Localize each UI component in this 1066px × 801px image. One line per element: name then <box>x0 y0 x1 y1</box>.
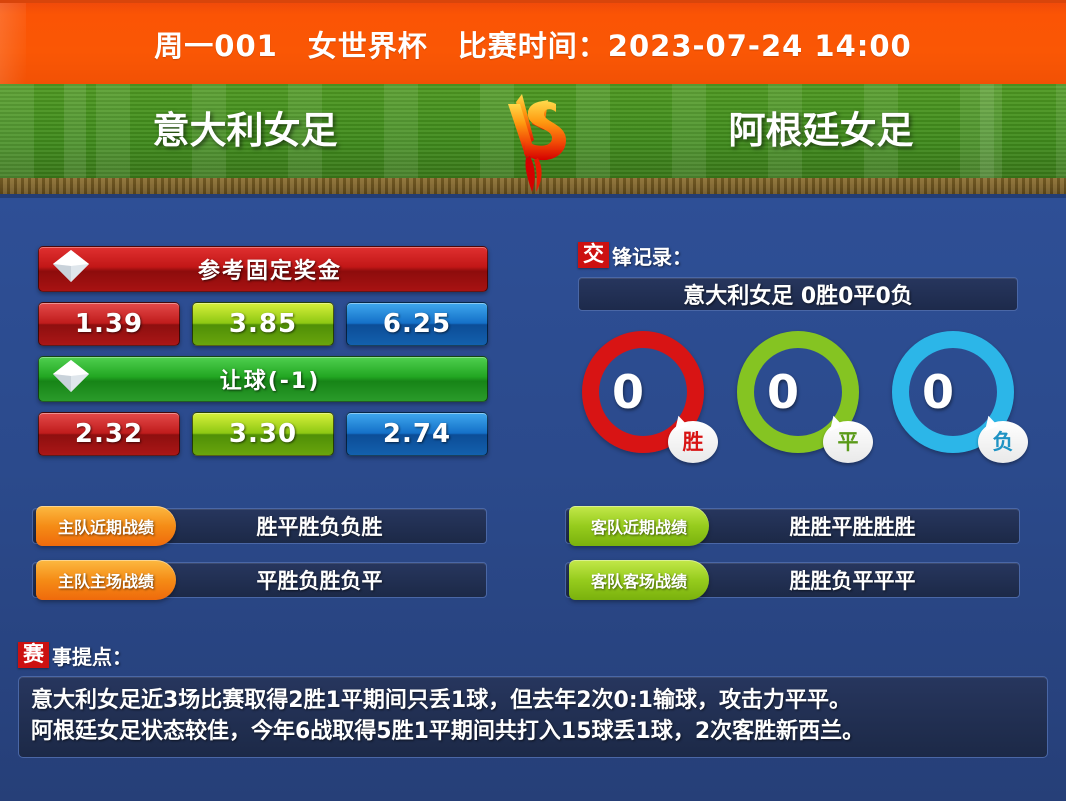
h2h-ring-win: 0 胜 <box>582 331 704 453</box>
ring-value-win: 0 <box>612 369 644 415</box>
analysis-line: 阿根廷女足状态较佳，今年6战取得5胜1平期间共打入15球丢1球，2次客胜新西兰。 <box>31 716 1035 747</box>
ring-badge-loss: 负 <box>978 421 1028 463</box>
home-recent-form-tag: 主队近期战绩 <box>36 506 176 546</box>
fixed-odds-title: 参考固定奖金 <box>184 253 342 285</box>
ring-value-draw: 0 <box>767 369 799 415</box>
h2h-label-key: 交 <box>578 242 609 268</box>
diamond-icon <box>51 358 91 400</box>
handicap-prefix: 让球( <box>220 369 280 394</box>
handicap-header: 让球(-1) <box>38 356 488 402</box>
analysis-label-rest: 事提点： <box>52 641 132 670</box>
fixed-odds-header: 参考固定奖金 <box>38 246 488 292</box>
h2h-section-label: 交 锋记录： <box>578 240 1018 270</box>
home-team-name: 意大利女足 <box>0 100 490 154</box>
handicap-odd-away[interactable]: 2.74 <box>346 412 488 456</box>
fixed-odd-draw[interactable]: 3.85 <box>192 302 334 346</box>
handicap-title: 让球(-1) <box>206 363 321 395</box>
away-venue-form-row: 胜胜负平平平 客队客场战绩 <box>565 562 1020 598</box>
handicap-suffix: ) <box>308 369 320 394</box>
analysis-panel: 赛 事提点： 意大利女足近3场比赛取得2胜1平期间只丢1球，但去年2次0:1输球… <box>18 640 1048 758</box>
match-preview-page: 周一001 女世界杯 比赛时间：2023-07-24 14:00 意大利女足 阿… <box>0 0 1066 801</box>
handicap-odds-row: 2.32 3.30 2.74 <box>38 412 488 456</box>
h2h-label-rest: 锋记录： <box>612 241 692 270</box>
away-venue-form-tag: 客队客场战绩 <box>569 560 709 600</box>
ring-value-loss: 0 <box>922 369 954 415</box>
h2h-summary: 意大利女足 0胜0平0负 <box>578 277 1018 311</box>
ring-badge-draw: 平 <box>823 421 873 463</box>
head-to-head-panel: 交 锋记录： 意大利女足 0胜0平0负 0 胜 0 平 0 负 <box>578 240 1018 453</box>
home-venue-form-tag: 主队主场战绩 <box>36 560 176 600</box>
handicap-odd-draw[interactable]: 3.30 <box>192 412 334 456</box>
header-bar: 周一001 女世界杯 比赛时间：2023-07-24 14:00 <box>0 0 1066 84</box>
away-recent-form-row: 胜胜平胜胜胜 客队近期战绩 <box>565 508 1020 544</box>
away-team-name: 阿根廷女足 <box>576 100 1066 154</box>
vs-flame-icon <box>486 88 586 194</box>
fixed-odd-away[interactable]: 6.25 <box>346 302 488 346</box>
analysis-text-box: 意大利女足近3场比赛取得2胜1平期间只丢1球，但去年2次0:1输球，攻击力平平。… <box>18 676 1048 758</box>
h2h-rings: 0 胜 0 平 0 负 <box>578 331 1018 453</box>
ring-badge-win: 胜 <box>668 421 718 463</box>
handicap-odd-home[interactable]: 2.32 <box>38 412 180 456</box>
h2h-ring-loss: 0 负 <box>892 331 1014 453</box>
home-form-column: 胜平胜负负胜 主队近期战绩 平胜负胜负平 主队主场战绩 <box>32 508 487 616</box>
analysis-label-key: 赛 <box>18 642 49 668</box>
fixed-odd-home[interactable]: 1.39 <box>38 302 180 346</box>
header-title: 周一001 女世界杯 比赛时间：2023-07-24 14:00 <box>154 23 911 65</box>
fixed-odds-row: 1.39 3.85 6.25 <box>38 302 488 346</box>
diamond-icon <box>51 248 91 290</box>
analysis-line: 意大利女足近3场比赛取得2胜1平期间只丢1球，但去年2次0:1输球，攻击力平平。 <box>31 685 1035 716</box>
h2h-ring-draw: 0 平 <box>737 331 859 453</box>
away-recent-form-tag: 客队近期战绩 <box>569 506 709 546</box>
home-recent-form-row: 胜平胜负负胜 主队近期战绩 <box>32 508 487 544</box>
handicap-value: -1 <box>280 369 308 394</box>
away-form-column: 胜胜平胜胜胜 客队近期战绩 胜胜负平平平 客队客场战绩 <box>565 508 1020 616</box>
odds-panel: 参考固定奖金 1.39 3.85 6.25 让球(-1) 2.32 3.30 2… <box>38 246 488 466</box>
analysis-section-label: 赛 事提点： <box>18 640 1048 670</box>
home-venue-form-row: 平胜负胜负平 主队主场战绩 <box>32 562 487 598</box>
